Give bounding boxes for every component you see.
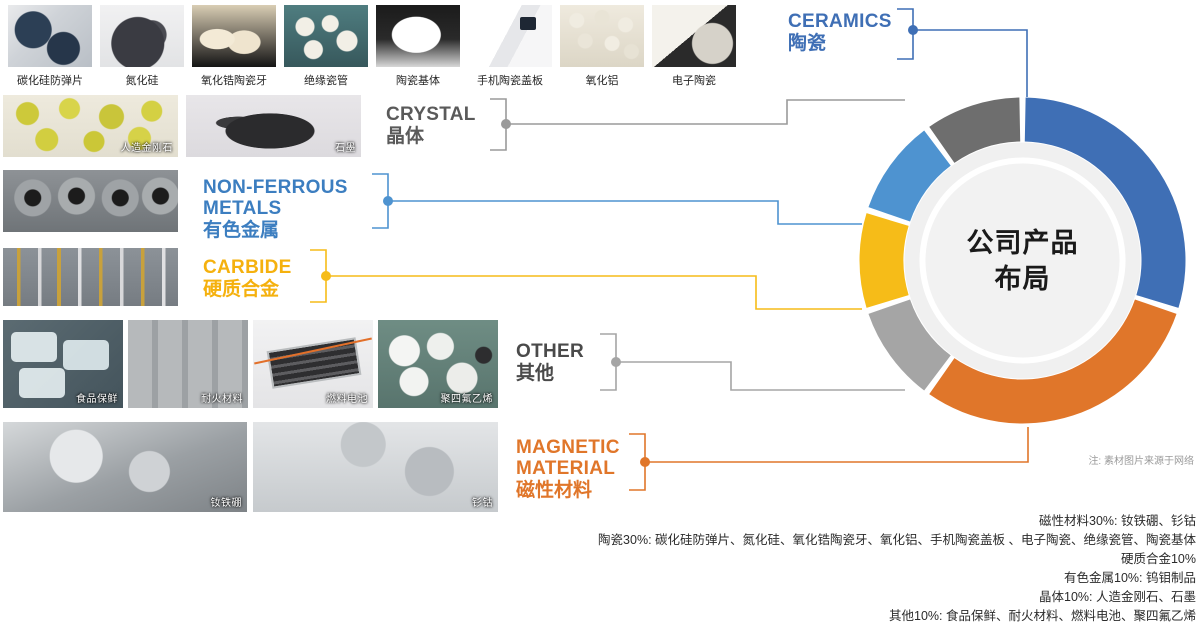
connector-ceramics [897,9,1027,97]
category-label-ceramics[interactable]: CERAMICS 陶瓷 [788,11,892,55]
thumb-caption: 石墨 [335,139,356,154]
thumbnail-other-fuelcell: 燃料电池 [253,320,373,408]
category-label-ceramics-cn: 陶瓷 [788,32,892,55]
thumbnail-magnetic-smco: 钐钴 [253,422,498,512]
thumb-caption: 燃料电池 [326,390,368,405]
caption-ceramic-5: 陶瓷基体 [376,72,460,88]
thumbnail-crystal-diamond: 人造金刚石 [3,95,178,157]
connector-node-carbide [321,271,331,281]
category-label-carbide[interactable]: CARBIDE 硬质合金 [203,257,292,301]
infographic-canvas: 碳化硅防弹片 氮化硅 氧化锆陶瓷牙 绝缘瓷管 陶瓷基体 手机陶瓷盖板 氧化铝 电… [0,0,1204,632]
legend-item: 硬质合金10% [598,550,1196,569]
donut-center-line1: 公司产品 [967,225,1079,261]
category-label-magnetic[interactable]: MAGNETIC MATERIAL 磁性材料 [516,437,620,502]
thumb-art [100,5,184,67]
container-shape [19,368,65,398]
thumbnail-other-food: 食品保鲜 [3,320,123,408]
thumbnail-ceramic-4 [284,5,368,67]
thumb-art [3,248,178,306]
category-label-other[interactable]: OTHER 其他 [516,341,584,385]
thumb-art [192,5,276,67]
thumbnail-ceramic-1 [8,5,92,67]
category-label-magnetic-cn: 磁性材料 [516,479,620,502]
connector-carbide [310,250,862,309]
category-label-nonferrous-en2: METALS [203,198,348,219]
thumb-art [8,5,92,67]
category-label-magnetic-en1: MAGNETIC [516,437,620,458]
thumb-caption: 耐火材料 [201,390,243,405]
donut-slice-carbide[interactable] [860,213,909,308]
connector-node-nonferrous [383,196,393,206]
thumbnail-magnetic-ndfeb: 钕铁硼 [3,422,247,512]
category-label-nonferrous-en1: NON-FERROUS [203,177,348,198]
caption-ceramic-4: 绝缘瓷管 [284,72,368,88]
thumbnail-ceramic-6 [468,5,552,67]
thumb-art [560,5,644,67]
thumb-caption: 钕铁硼 [211,494,243,509]
thumb-art [3,170,178,232]
donut-center-line2: 布局 [967,261,1079,297]
connector-crystal [490,99,905,150]
caption-ceramic-2: 氮化硅 [100,72,184,88]
caption-ceramic-7: 氧化铝 [560,72,644,88]
category-label-carbide-cn: 硬质合金 [203,278,292,301]
caption-ceramic-6: 手机陶瓷盖板 [468,72,552,88]
legend-list: 磁性材料30%: 钕铁硼、钐钴 陶瓷30%: 碳化硅防弹片、氮化硅、氧化锆陶瓷牙… [598,512,1196,626]
thumbnail-ceramic-5 [376,5,460,67]
container-shape [63,340,109,370]
caption-ceramic-8: 电子陶瓷 [652,72,736,88]
category-label-crystal-en: CRYSTAL [386,104,476,125]
thumbnail-other-ptfe: 聚四氟乙烯 [378,320,498,408]
thumbnail-ceramic-8 [652,5,736,67]
thumb-caption: 人造金刚石 [121,139,174,154]
connector-magnetic [629,427,1028,490]
category-label-nonferrous[interactable]: NON-FERROUS METALS 有色金属 [203,177,348,242]
thumb-art [468,5,552,67]
source-note: 注: 素材图片来源于网络 [1088,452,1194,467]
connector-node-ceramics [908,25,918,35]
thumb-art [253,422,498,512]
connector-node-crystal [501,119,511,129]
legend-item: 其他10%: 食品保鲜、耐火材料、燃料电池、聚四氟乙烯 [598,607,1196,626]
category-label-nonferrous-cn: 有色金属 [203,219,348,242]
category-label-other-cn: 其他 [516,362,584,385]
phone-camera-module [520,17,536,30]
donut-chart[interactable]: 公司产品 布局 [855,93,1190,428]
category-label-carbide-en: CARBIDE [203,257,292,278]
legend-item: 陶瓷30%: 碳化硅防弹片、氮化硅、氧化锆陶瓷牙、氧化铝、手机陶瓷盖板 、电子陶… [598,531,1196,550]
thumb-art [652,5,736,67]
category-label-magnetic-en2: MATERIAL [516,458,620,479]
thumbnail-ceramic-2 [100,5,184,67]
caption-ceramic-3: 氧化锆陶瓷牙 [192,72,276,88]
legend-item: 磁性材料30%: 钕铁硼、钐钴 [598,512,1196,531]
thumbnail-crystal-graphite: 石墨 [186,95,361,157]
category-label-crystal-cn: 晶体 [386,125,476,148]
thumbnail-ceramic-7 [560,5,644,67]
thumbnail-carbide-drills [3,248,178,306]
thumb-art [284,5,368,67]
legend-item: 晶体10%: 人造金刚石、石墨 [598,588,1196,607]
connector-node-magnetic [640,457,650,467]
thumb-caption: 聚四氟乙烯 [441,390,494,405]
thumbnail-nonferrous-tungsten [3,170,178,232]
connector-node-other [611,357,621,367]
connector-nonferrous [372,174,862,228]
category-label-ceramics-en: CERAMICS [788,11,892,32]
category-label-other-en: OTHER [516,341,584,362]
caption-ceramic-1: 碳化硅防弹片 [8,72,92,88]
thumb-art [376,5,460,67]
thumbnail-other-refractory: 耐火材料 [128,320,248,408]
container-shape [11,332,57,362]
legend-item: 有色金属10%: 钨钼制品 [598,569,1196,588]
thumb-caption: 食品保鲜 [76,390,118,405]
donut-center-title: 公司产品 布局 [967,225,1079,297]
category-label-crystal[interactable]: CRYSTAL 晶体 [386,104,476,148]
thumb-caption: 钐钴 [472,494,493,509]
thumbnail-ceramic-3 [192,5,276,67]
